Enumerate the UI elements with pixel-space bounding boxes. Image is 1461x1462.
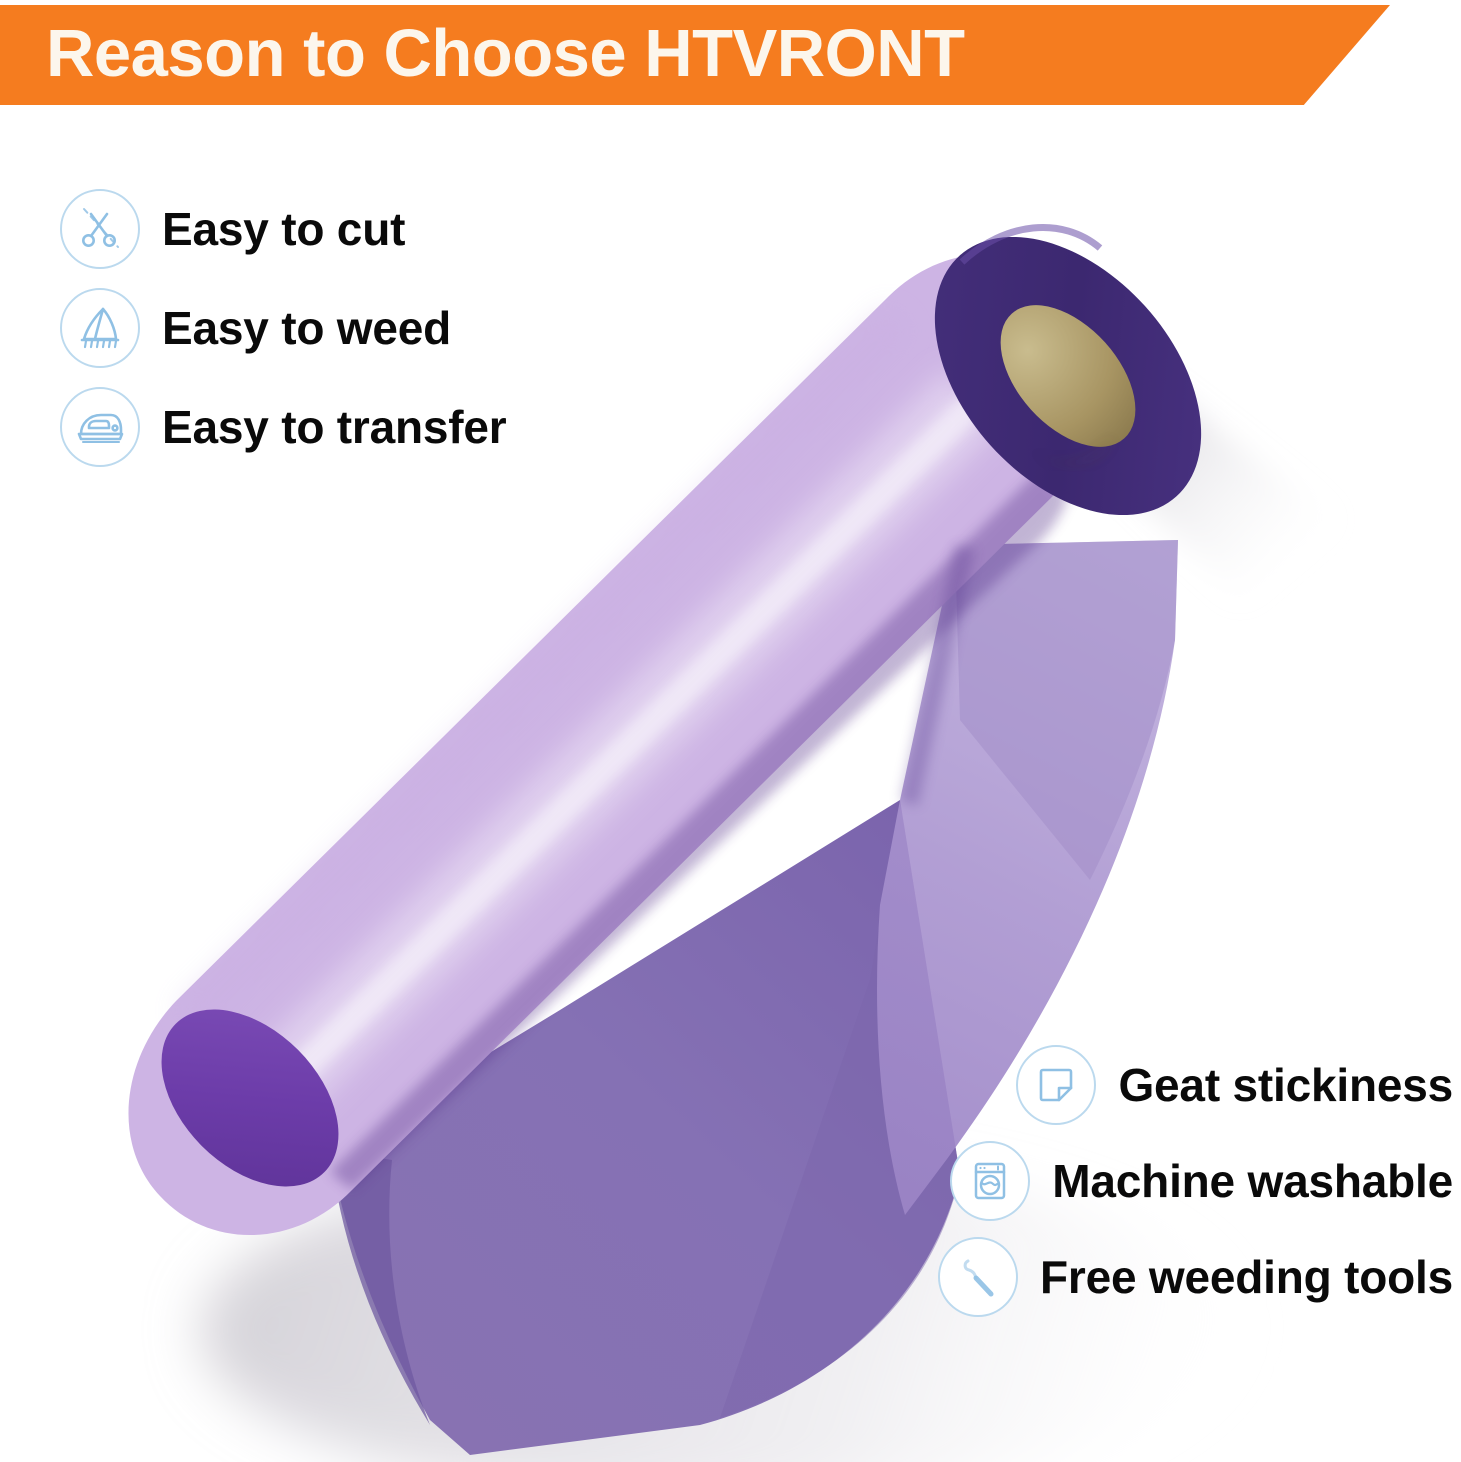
page-title: Reason to Choose HTVRONT [0, 20, 965, 87]
feature-item-great-stickiness: Geat stickiness [1016, 1042, 1453, 1128]
scissors-icon [60, 189, 140, 269]
roll-left-endcap [128, 976, 373, 1221]
roll-peel-edge [900, 545, 975, 806]
feature-item-easy-to-weed: Easy to weed [60, 285, 507, 371]
feature-item-easy-to-cut: Easy to cut [60, 186, 507, 272]
header-banner: Reason to Choose HTVRONT [0, 5, 1390, 105]
sticker-peel-icon [1016, 1045, 1096, 1125]
feature-label: Easy to transfer [162, 404, 507, 450]
roll-core [975, 280, 1162, 472]
feature-list-bottom-right: Geat stickiness Machine washable Free we… [938, 1042, 1453, 1320]
feature-label: Easy to weed [162, 305, 451, 351]
roll-end-face [882, 186, 1253, 566]
vinyl-backing-sheet [330, 800, 960, 1455]
feature-label: Free weeding tools [1040, 1254, 1453, 1300]
feature-label: Easy to cut [162, 206, 405, 252]
feature-item-machine-washable: Machine washable [950, 1138, 1453, 1224]
washing-machine-icon [950, 1141, 1030, 1221]
feature-label: Machine washable [1052, 1158, 1453, 1204]
feature-item-easy-to-transfer: Easy to transfer [60, 384, 507, 470]
weeding-hook-icon [938, 1237, 1018, 1317]
feature-label: Geat stickiness [1118, 1062, 1453, 1108]
feature-item-free-weeding-tools: Free weeding tools [938, 1234, 1453, 1320]
iron-icon [60, 387, 140, 467]
weeding-brush-icon [60, 288, 140, 368]
feature-list-top-left: Easy to cut Easy to weed Easy to transfe… [60, 186, 507, 470]
